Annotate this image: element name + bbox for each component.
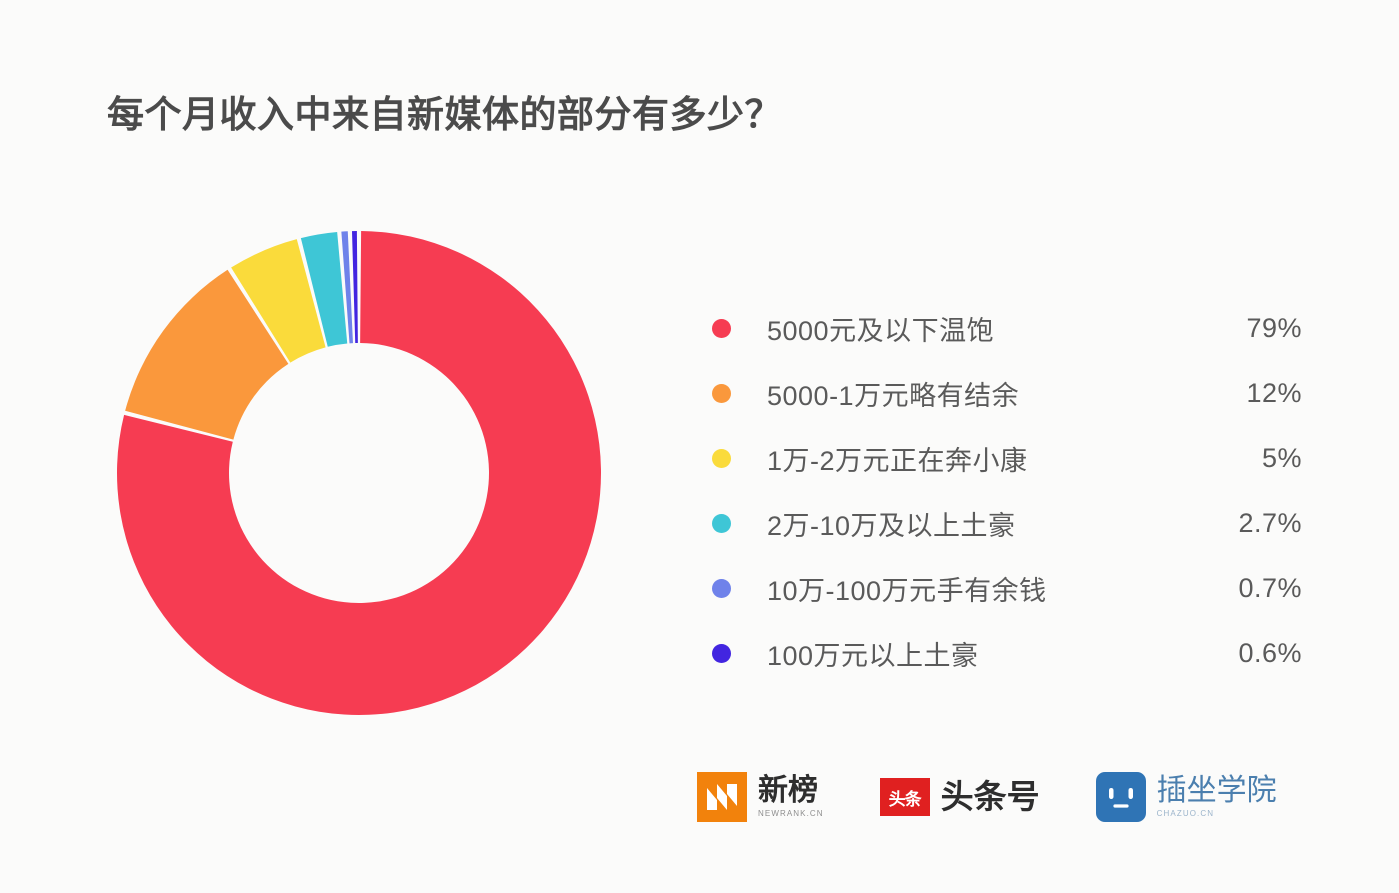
legend-item-value: 0.6% <box>1206 638 1302 669</box>
newrank-subtitle: NEWRANK.CN <box>758 809 824 818</box>
chazuo-mark-icon <box>1096 772 1146 822</box>
donut-chart-svg <box>116 230 602 716</box>
logo-newrank: 新榜 NEWRANK.CN <box>697 772 824 822</box>
chart-legend: 5000元及以下温饱 79% 5000-1万元略有结余 12% 1万-2万元正在… <box>712 296 1302 686</box>
legend-item-4[interactable]: 10万-100万元手有余钱 0.7% <box>712 556 1302 621</box>
legend-item-label: 5000-1万元略有结余 <box>767 374 1206 413</box>
legend-color-swatch-icon <box>712 644 731 663</box>
newrank-mark-icon <box>697 772 747 822</box>
legend-item-value: 79% <box>1206 313 1302 344</box>
legend-item-label: 5000元及以下温饱 <box>767 309 1206 348</box>
legend-item-0[interactable]: 5000元及以下温饱 79% <box>712 296 1302 361</box>
toutiaohao-text-block: 头条号 <box>941 780 1040 814</box>
legend-item-value: 2.7% <box>1206 508 1302 539</box>
legend-item-2[interactable]: 1万-2万元正在奔小康 5% <box>712 426 1302 491</box>
donut-chart <box>116 230 602 716</box>
donut-slice-group <box>117 231 601 715</box>
newrank-zigzag-icon <box>697 772 747 822</box>
chazuo-subtitle: CHAZUO.CN <box>1157 809 1277 818</box>
legend-color-swatch-icon <box>712 514 731 533</box>
chazuo-face-icon <box>1096 772 1146 822</box>
legend-item-value: 12% <box>1206 378 1302 409</box>
legend-color-swatch-icon <box>712 319 731 338</box>
legend-item-label: 1万-2万元正在奔小康 <box>767 439 1206 478</box>
legend-item-label: 2万-10万及以上土豪 <box>767 504 1206 543</box>
footer-logo-row: 新榜 NEWRANK.CN 头条 头条号 插坐学院 CHAZUO.CN <box>697 772 1277 822</box>
page-title: 每个月收入中来自新媒体的部分有多少？ <box>107 84 782 138</box>
toutiaohao-name: 头条号 <box>941 780 1040 814</box>
legend-item-value: 0.7% <box>1206 573 1302 604</box>
logo-chazuo: 插坐学院 CHAZUO.CN <box>1096 772 1277 822</box>
toutiaohao-mark-icon: 头条 <box>880 778 930 816</box>
legend-item-5[interactable]: 100万元以上土豪 0.6% <box>712 621 1302 686</box>
legend-color-swatch-icon <box>712 449 731 468</box>
chazuo-text-block: 插坐学院 CHAZUO.CN <box>1157 776 1277 818</box>
legend-item-value: 5% <box>1206 443 1302 474</box>
logo-toutiaohao: 头条 头条号 <box>880 778 1040 816</box>
donut-slice[interactable] <box>352 231 358 343</box>
chazuo-name: 插坐学院 <box>1157 776 1277 807</box>
legend-item-1[interactable]: 5000-1万元略有结余 12% <box>712 361 1302 426</box>
legend-item-label: 100万元以上土豪 <box>767 634 1206 673</box>
legend-color-swatch-icon <box>712 384 731 403</box>
newrank-name: 新榜 <box>758 776 824 807</box>
legend-item-3[interactable]: 2万-10万及以上土豪 2.7% <box>712 491 1302 556</box>
newrank-text-block: 新榜 NEWRANK.CN <box>758 776 824 818</box>
legend-color-swatch-icon <box>712 579 731 598</box>
legend-item-label: 10万-100万元手有余钱 <box>767 569 1206 608</box>
